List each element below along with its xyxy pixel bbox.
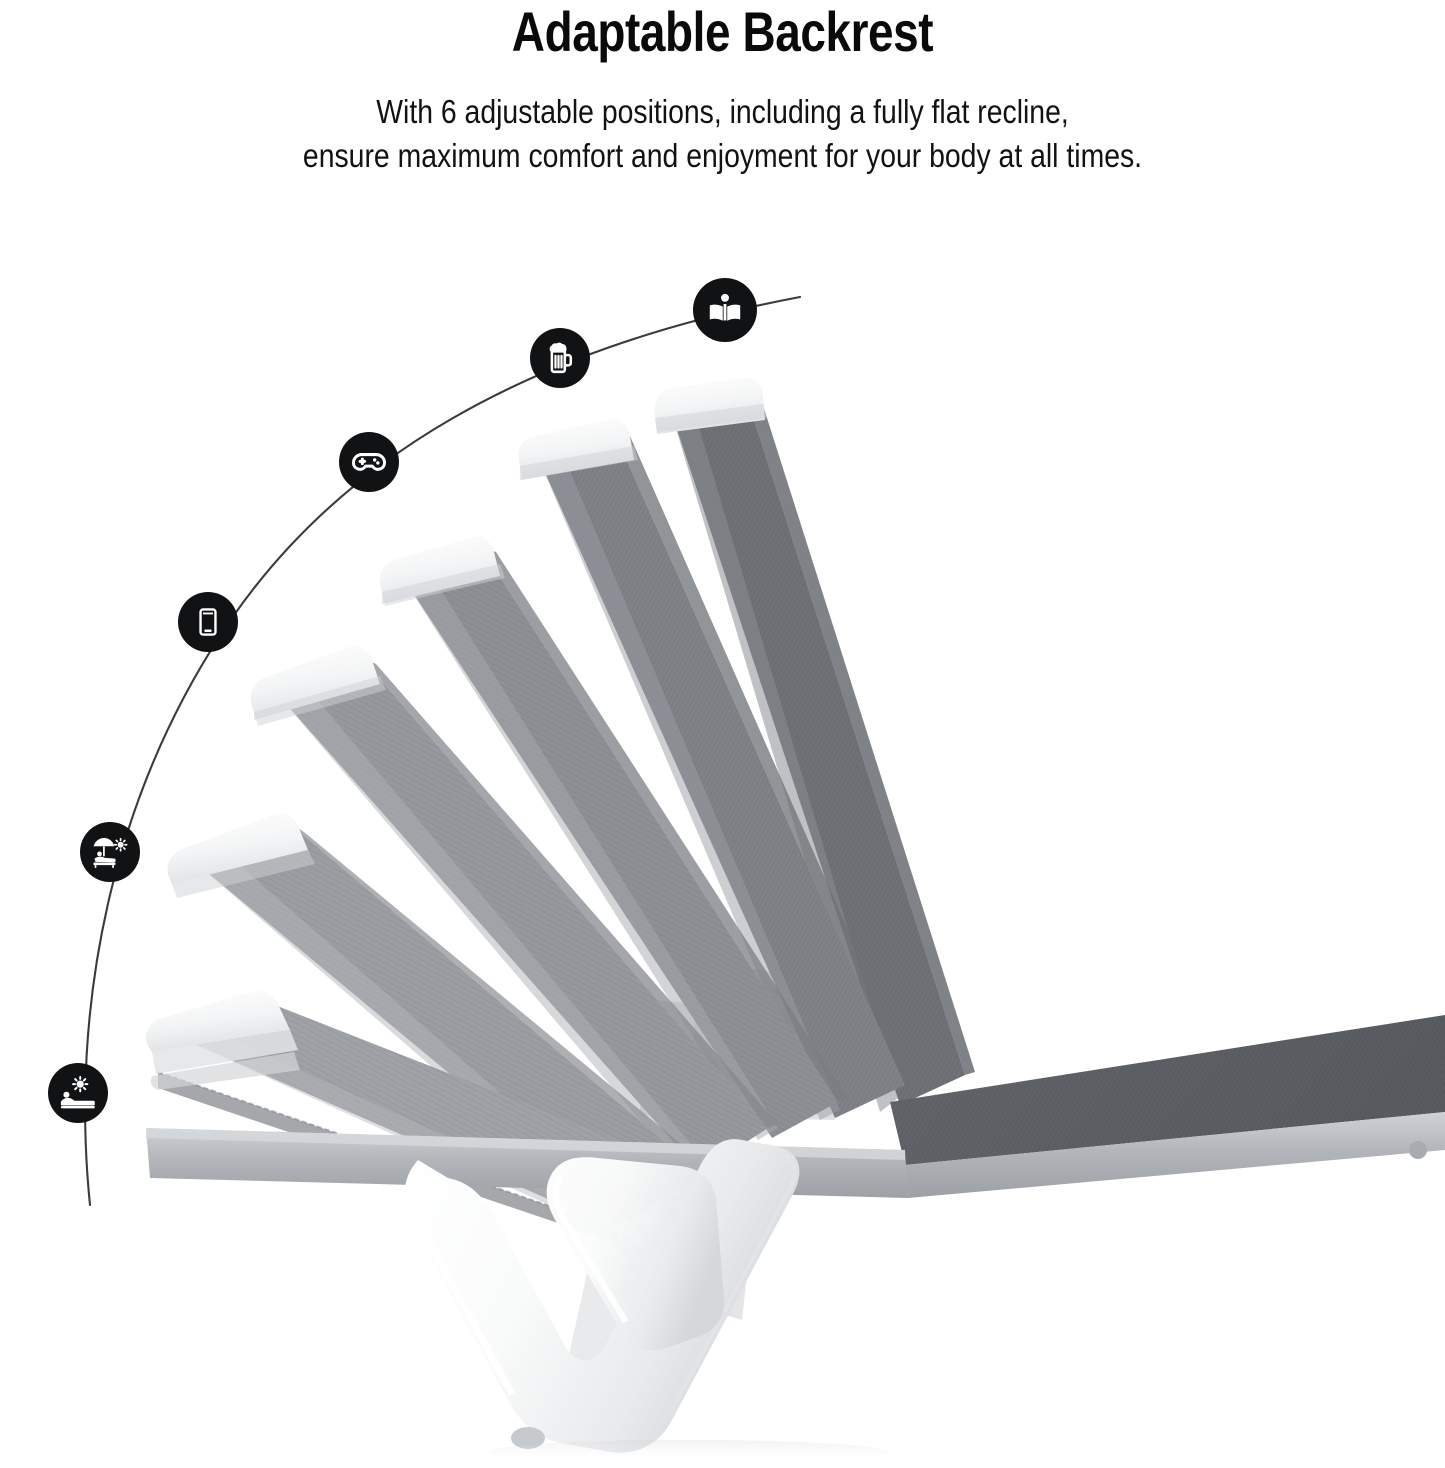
parasol-lounger-icon (91, 833, 129, 871)
leg-frame-rear (547, 1157, 725, 1350)
sunbathe-flat-icon (59, 1074, 97, 1112)
seat-section (890, 1015, 1445, 1198)
ground-shadow (490, 1440, 890, 1464)
product-illustration (0, 0, 1445, 1468)
badge-beer-mug[interactable] (530, 328, 590, 388)
badge-reading-book[interactable] (693, 278, 757, 342)
beer-mug-icon (542, 340, 578, 376)
badge-gamepad[interactable] (339, 432, 399, 492)
reading-book-icon (706, 291, 744, 329)
smartphone-icon (192, 606, 224, 638)
gamepad-icon (350, 443, 388, 481)
badge-sunbathe-flat[interactable] (48, 1063, 108, 1123)
seat-rail-fitting (1409, 1141, 1427, 1159)
badge-parasol-lounger[interactable] (80, 822, 140, 882)
badge-smartphone[interactable] (178, 592, 238, 652)
infographic-canvas: Adaptable Backrest With 6 adjustable pos… (0, 0, 1445, 1468)
